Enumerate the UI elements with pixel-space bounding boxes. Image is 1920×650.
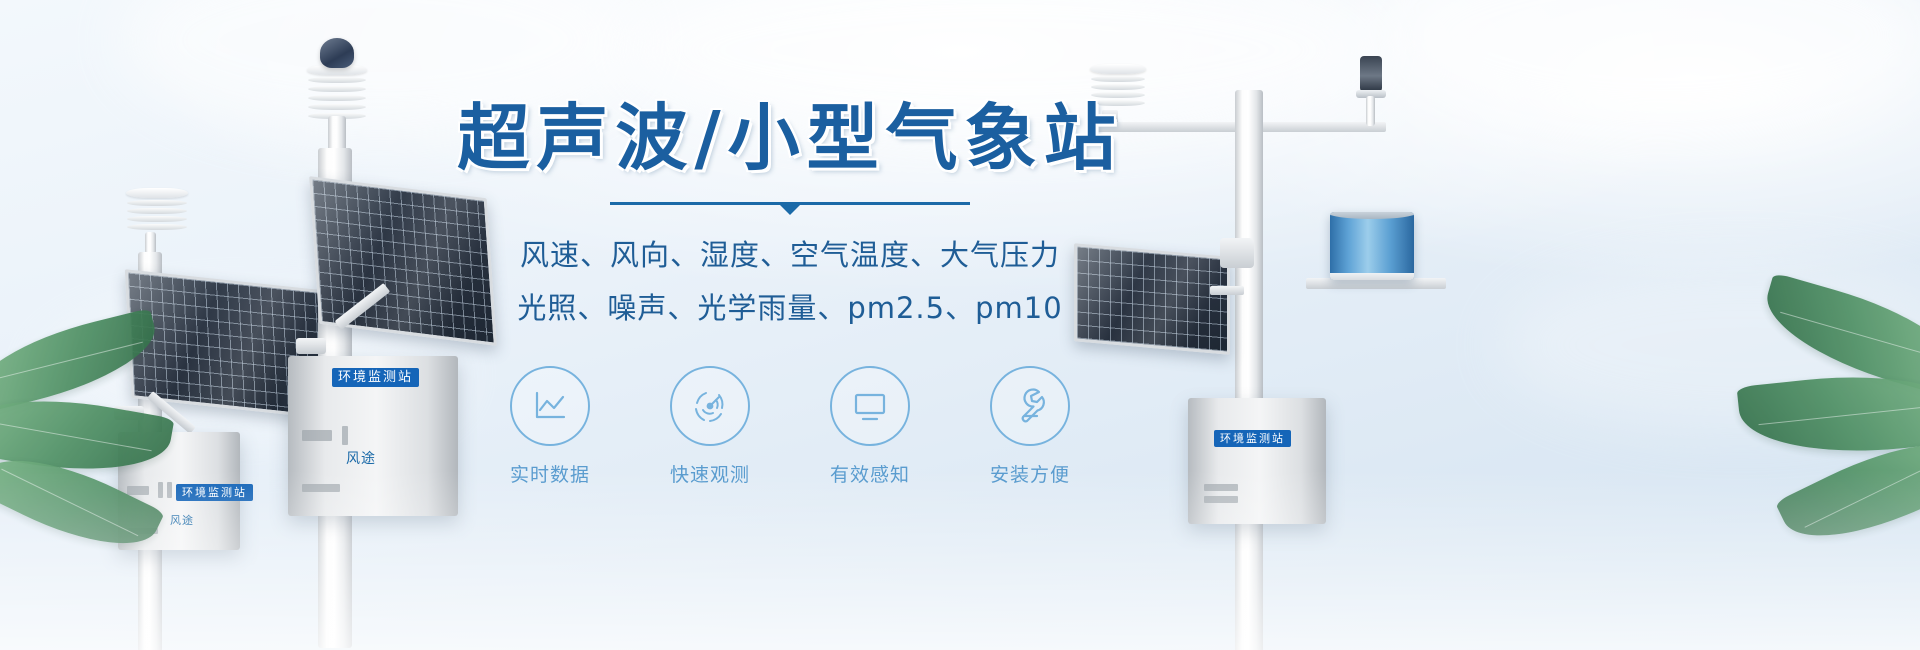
banner-subtitle-line-2: 光照、噪声、光学雨量、pm2.5、pm10	[430, 285, 1150, 332]
monitor-screen-icon	[830, 366, 910, 446]
banner-content: 超声波/小型气象站 风速、风向、湿度、空气温度、大气压力 光照、噪声、光学雨量、…	[430, 100, 1150, 487]
banner-subtitle-line-1: 风速、风向、湿度、空气温度、大气压力	[430, 232, 1150, 279]
feature-item-realtime-data[interactable]: 实时数据	[500, 366, 600, 487]
feature-label: 快速观测	[660, 460, 760, 487]
line-chart-icon	[510, 366, 590, 446]
radiation-shield-icon	[126, 188, 188, 234]
camera-pole	[1366, 96, 1375, 126]
bottom-haze	[0, 470, 1920, 650]
divider-triangle-icon	[779, 204, 801, 215]
wrench-icon	[990, 366, 1070, 446]
feature-list: 实时数据 快速观测	[430, 366, 1150, 487]
mast-clamp	[296, 338, 326, 354]
sensor-neck	[145, 232, 156, 254]
feature-label: 安装方便	[980, 460, 1080, 487]
ultrasonic-wind-sensor	[320, 38, 354, 68]
radiation-shield-icon	[307, 65, 367, 117]
feature-label: 实时数据	[500, 460, 600, 487]
feature-item-easy-installation[interactable]: 安装方便	[980, 366, 1080, 487]
title-divider	[610, 202, 970, 216]
feature-label: 有效感知	[820, 460, 920, 487]
brand-logo: 风途	[346, 448, 376, 468]
radar-scan-icon	[670, 366, 750, 446]
mast-clamp	[1220, 238, 1254, 268]
cabinet-badge: 环境监测站	[1214, 430, 1291, 447]
feature-item-fast-observation[interactable]: 快速观测	[660, 366, 760, 487]
cabinet-badge: 环境监测站	[332, 368, 419, 387]
panel-bracket	[1210, 286, 1244, 295]
feature-item-effective-sensing[interactable]: 有效感知	[820, 366, 920, 487]
camera-sensor	[1360, 56, 1382, 92]
optical-rain-gauge	[1330, 212, 1414, 280]
product-banner: 环境监测站 风途 环境监测站 风途	[0, 0, 1920, 650]
banner-title: 超声波/小型气象站	[430, 100, 1150, 178]
